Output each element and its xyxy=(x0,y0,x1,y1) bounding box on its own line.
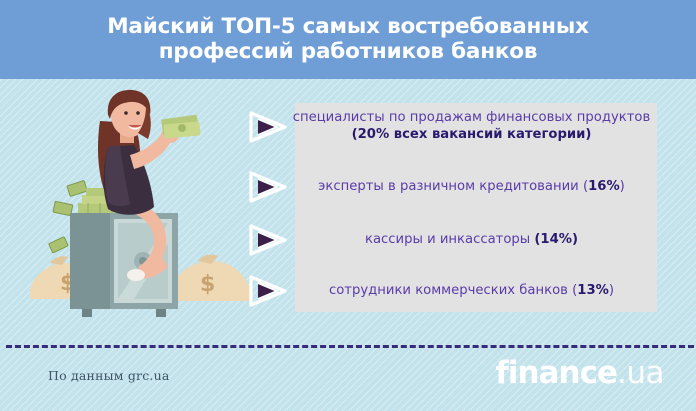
page-title: Майский ТОП-5 самых востребованных профе… xyxy=(68,15,628,65)
list-item-text: кассиры и инкассаторы (14%) xyxy=(292,232,657,249)
triangle-arrow-bullet-icon xyxy=(248,275,288,307)
triangle-arrow-bullet-icon xyxy=(248,171,288,203)
logo-tld-text: .ua xyxy=(617,355,664,391)
list-item-text: специалисты по продажам финансовых проду… xyxy=(292,110,657,144)
list-item: специалисты по продажам финансовых проду… xyxy=(248,110,657,144)
list-item: сотрудники коммерческих банков (13%) xyxy=(248,275,657,307)
list-item: эксперты в разничном кредитовании (16%) xyxy=(248,171,657,203)
finance-ua-logo: finance.ua xyxy=(495,358,664,389)
woman-sitting-on-safe-with-money-illustration: $ $ xyxy=(22,85,254,317)
infographic-page: Майский ТОП-5 самых востребованных профе… xyxy=(0,0,696,411)
list-item: кассиры и инкассаторы (14%) xyxy=(248,224,657,256)
logo-main-text: finance xyxy=(495,355,617,391)
list-item-text: эксперты в разничном кредитовании (16%) xyxy=(292,179,657,196)
dashed-divider xyxy=(6,345,694,348)
list-item-text: сотрудники коммерческих банков (13%) xyxy=(292,283,657,300)
svg-text:$: $ xyxy=(200,272,215,297)
money-bag-icon: $ xyxy=(170,255,251,301)
money-bundle-icon xyxy=(161,115,200,139)
header-banner: Майский ТОП-5 самых востребованных профе… xyxy=(0,0,696,79)
triangle-arrow-bullet-icon xyxy=(248,111,288,143)
profession-list: специалисты по продажам финансовых проду… xyxy=(248,103,657,312)
source-note: По данным grc.ua xyxy=(48,368,170,383)
triangle-arrow-bullet-icon xyxy=(248,224,288,256)
